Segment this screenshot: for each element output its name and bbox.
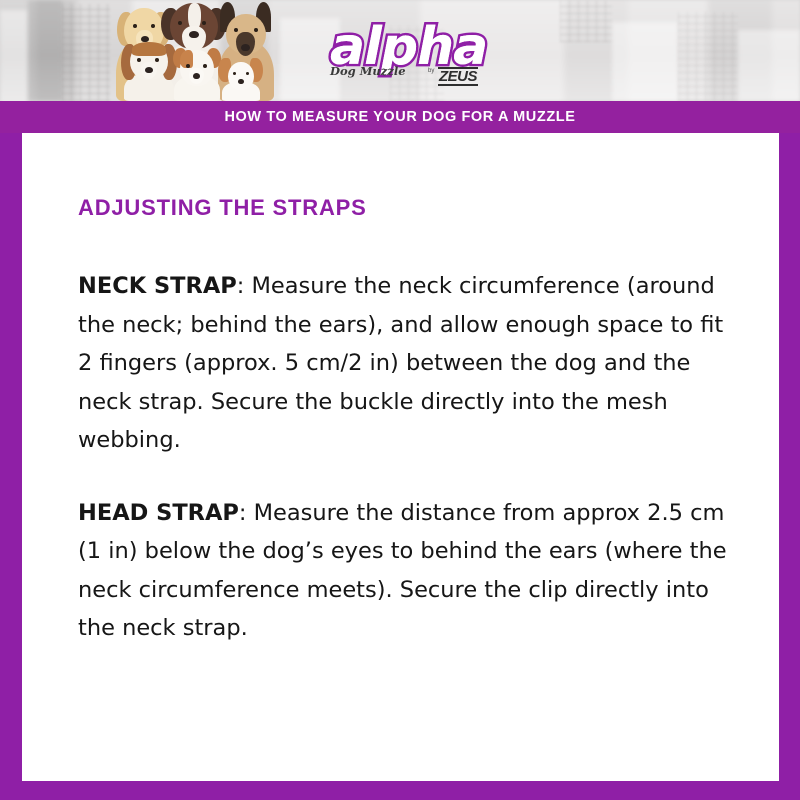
page-root: alpha alpha Dog Muzzle by ZEUS HOW TO ME… (0, 0, 800, 800)
head-strap-label: HEAD STRAP (78, 500, 239, 526)
skyline-building-1 (0, 10, 28, 101)
skyline-building-3 (62, 4, 110, 101)
page-title: ADJUSTING THE STRAPS (78, 195, 749, 221)
paragraph-neck-strap: NECK STRAP: Measure the neck circumferen… (78, 267, 730, 460)
logo-tagline: Dog Muzzle (330, 64, 406, 78)
dog-group-photo (110, 0, 280, 101)
content-card: ADJUSTING THE STRAPS NECK STRAP: Measure… (22, 133, 779, 781)
skyline-building-7 (612, 22, 678, 101)
skyline-building-8 (678, 12, 738, 101)
neck-strap-body: : Measure the neck circumference (around… (78, 273, 723, 453)
header-hero: alpha alpha Dog Muzzle by ZEUS (0, 0, 800, 101)
paragraph-head-strap: HEAD STRAP: Measure the distance from ap… (78, 494, 730, 648)
logo-by-brand: ZEUS (438, 67, 478, 86)
skyline-building-6 (560, 0, 612, 42)
alpha-logo: alpha alpha Dog Muzzle by ZEUS (328, 12, 488, 88)
banner-title: HOW TO MEASURE YOUR DOG FOR A MUZZLE (224, 109, 575, 125)
skyline-building-2 (28, 0, 62, 101)
neck-strap-label: NECK STRAP (78, 273, 237, 299)
skyline-building-9 (738, 30, 800, 101)
page-banner: HOW TO MEASURE YOUR DOG FOR A MUZZLE (0, 101, 800, 133)
logo-by-prefix: by (428, 68, 434, 74)
